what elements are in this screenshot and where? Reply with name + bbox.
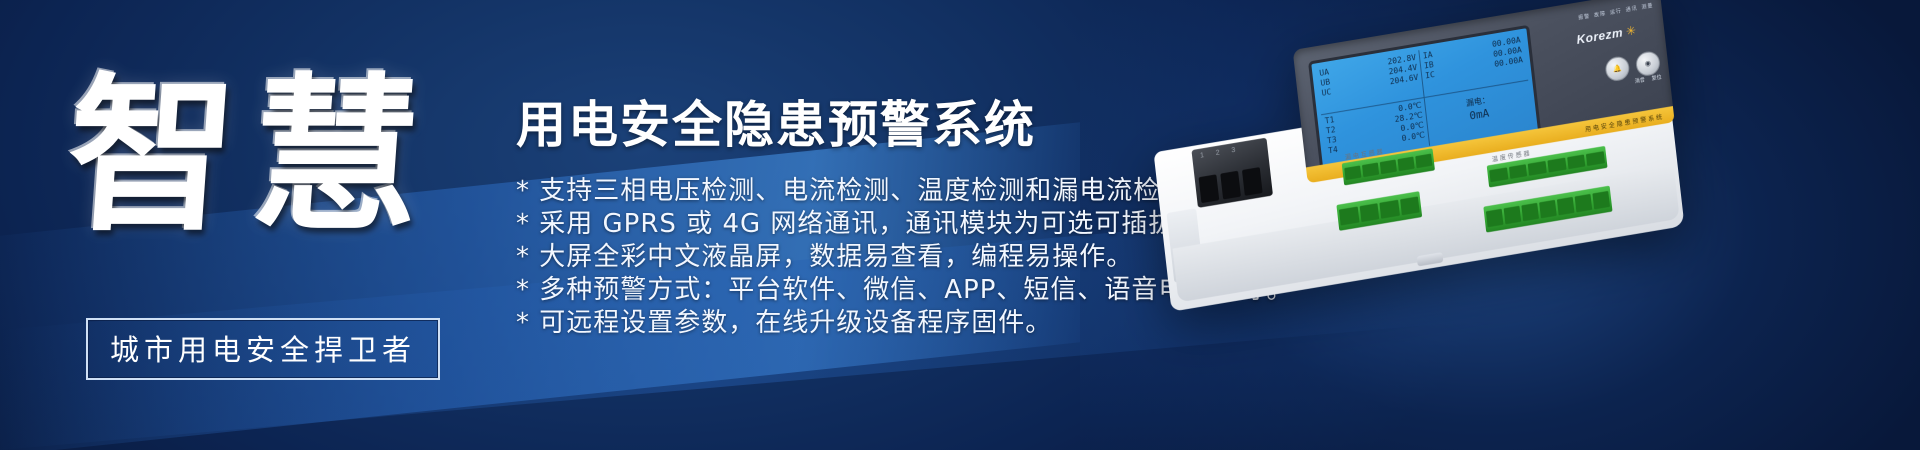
brand-name: Korezm [1576,25,1624,47]
calligraphy-title: 智 慧 [68,20,488,290]
status-label-run: 运行 [1610,7,1623,16]
slogan-text: 城市用电安全捍卫者 [110,327,416,369]
device-illustration: UA202.8V UB204.4V UC204.6V IA00.00A IB00… [1145,0,1726,324]
calligraphy-char-1: 智 [62,71,248,239]
calligraphy-char-2: 慧 [246,71,432,239]
lcd-t4-label: T4 [1328,145,1339,157]
connector-number-2: 2 [1215,150,1220,158]
page-title: 用电安全隐患预警系统 [516,85,1036,157]
status-label-comm: 通讯 [1625,5,1638,14]
star-icon: ✳ [1625,23,1637,39]
connector-pin [1220,171,1241,200]
connector-number-1: 1 [1200,152,1205,160]
connector-pin [1242,167,1263,196]
slogan-box: 城市用电安全捍卫者 [86,318,440,380]
status-label-alarm: 报警 [1578,13,1591,22]
lcd-ic-label: IC [1425,70,1436,82]
reset-button-label: 复位 [1651,74,1662,83]
product-image: UA202.8V UB204.4V UC204.6V IA00.00A IB00… [1095,8,1895,338]
power-connector: 1 2 3 [1191,138,1273,208]
status-label-fault: 故障 [1594,10,1607,19]
promo-banner: 智 慧 城市用电安全捍卫者 用电安全隐患预警系统 * 支持三相电压检测、电流检测… [0,0,1920,450]
connector-pins [1199,167,1263,203]
mute-button-label: 消音 [1634,76,1645,85]
lcd-uc-label: UC [1321,87,1332,99]
status-label-measure: 测量 [1641,2,1654,11]
brand-logo: Korezm✳ [1558,20,1654,50]
connector-number-3: 3 [1231,147,1236,155]
connector-pin [1199,174,1220,203]
connector-numbers: 1 2 3 [1200,147,1236,160]
